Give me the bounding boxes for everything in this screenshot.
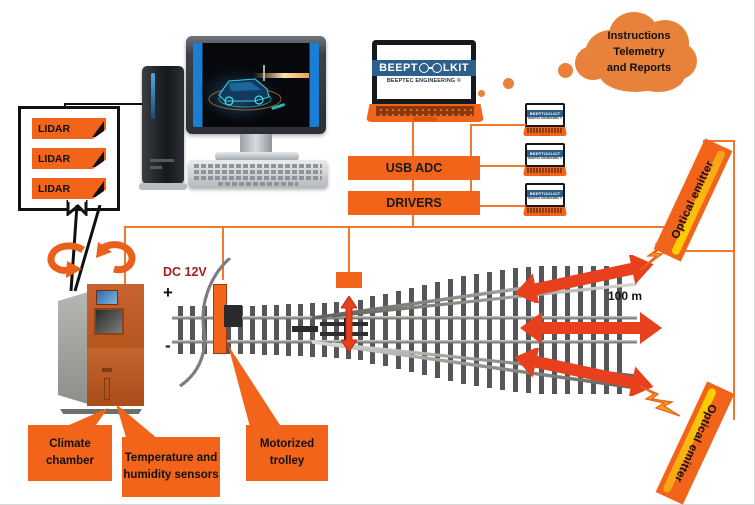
laptop-lid: BEEPT LKIT BEEPTEC ENGINEERING ©: [372, 40, 476, 104]
lidar-sensor-icon: [91, 121, 104, 137]
laptop-lid: BEEPTOOLKIT BEEPTEC ENGINEERING ©: [525, 143, 565, 167]
chamber-window: [94, 308, 124, 335]
callout-label: Motorized trolley: [246, 436, 328, 469]
lidar-panel[interactable]: LIDAR LIDAR LIDAR: [18, 106, 120, 211]
monitor-screen: [193, 43, 319, 127]
optical-emitter-label: Optical emitter: [670, 159, 717, 241]
switch-actuator-block[interactable]: [336, 272, 362, 288]
glasses-icon: [419, 63, 442, 73]
chamber-handle-icon: [104, 378, 110, 400]
cloud-bubble-small: [478, 90, 485, 97]
client-laptop-3[interactable]: BEEPTOOLKIT BEEPTEC ENGINEERING ©: [523, 183, 567, 217]
main-bus-horizontal: [124, 226, 676, 228]
lidar-to-tower-wire: [64, 103, 144, 105]
chamber-side-panel: [58, 292, 88, 404]
laptop-base: [523, 127, 567, 136]
brand-subtitle: BEEPTEC ENGINEERING ©: [387, 78, 461, 84]
laptop-screen: BEEPTOOLKIT BEEPTEC ENGINEERING ©: [527, 145, 563, 165]
chamber-control-display[interactable]: [96, 290, 118, 305]
tower-base: [139, 183, 187, 190]
brand-subtitle: BEEPTEC ENGINEERING ©: [528, 157, 562, 160]
optical-signal-icon-bottom: [640, 380, 680, 418]
tower-led-icon: [151, 73, 155, 119]
laptop-keyboard-icon: [527, 208, 563, 213]
lidar-item-label: LIDAR: [38, 183, 70, 195]
desktop-tower[interactable]: [142, 66, 184, 184]
measurement-arrow-middle: [520, 308, 662, 348]
cloud-line-3: and Reports: [607, 61, 671, 77]
laptop-screen: BEEPT LKIT BEEPTEC ENGINEERING ©: [377, 45, 471, 99]
desktop-monitor[interactable]: [186, 36, 326, 134]
desktop-keyboard[interactable]: [188, 160, 328, 188]
beeptoolkit-logo: BEEPTOOLKIT: [527, 150, 564, 157]
cloud-text: Instructions Telemetry and Reports: [575, 8, 703, 98]
cloud-line-1: Instructions: [608, 29, 671, 45]
diagram-canvas: LIDAR LIDAR LIDAR: [0, 0, 755, 505]
laptop-keyboard-icon: [527, 128, 563, 133]
lidar-sensor-icon: [91, 181, 104, 197]
brand-suffix: LKIT: [443, 62, 469, 74]
cloud-bubble-large: [558, 63, 573, 78]
laptop-touchpad-icon: [540, 214, 550, 216]
switch-throw-arrow-icon: [341, 296, 357, 352]
beeptoolkit-logo: BEEPTOOLKIT: [527, 110, 564, 117]
lidar-item-3[interactable]: LIDAR: [32, 178, 106, 199]
cloud-bubble-medium: [503, 78, 514, 89]
emitter-loop-vertical: [733, 140, 735, 420]
usb-adc-block[interactable]: USB ADC: [348, 156, 480, 180]
callout-label: Climate chamber: [28, 436, 112, 469]
lidar-item-label: LIDAR: [38, 123, 70, 135]
rotation-arrow-right-icon: [92, 238, 138, 280]
laptop-to-clients-wire: [470, 124, 526, 126]
drivers-label: DRIVERS: [386, 196, 442, 211]
rotation-arrow-left-icon: [45, 240, 91, 280]
cloud-line-2: Telemetry: [613, 45, 664, 61]
distance-label: 100 m: [608, 289, 642, 303]
laptop-touchpad-icon: [540, 174, 550, 176]
laptop-screen: BEEPTOOLKIT BEEPTEC ENGINEERING ©: [527, 185, 563, 205]
tower-port-icon: [150, 159, 174, 162]
laptop-touchpad-icon: [540, 134, 550, 136]
laptop-keyboard-icon: [376, 106, 474, 116]
optical-emitter-top[interactable]: Optical emitter: [654, 138, 733, 261]
brand-subtitle: BEEPTEC ENGINEERING ©: [528, 117, 562, 120]
tower-port-icon: [150, 166, 162, 169]
chamber-slot-icon: [102, 368, 112, 372]
laptop-base: [523, 207, 567, 216]
laptop-touchpad-icon: [413, 117, 437, 121]
laptop-screen: BEEPTOOLKIT BEEPTEC ENGINEERING ©: [527, 105, 563, 125]
brand-prefix: BEEPT: [379, 62, 418, 74]
cloud-callout: Instructions Telemetry and Reports: [575, 8, 703, 98]
laptop-lid: BEEPTOOLKIT BEEPTEC ENGINEERING ©: [525, 103, 565, 127]
dc-voltage-label: DC 12V: [163, 265, 207, 279]
polarity-plus-label: +: [163, 283, 173, 303]
motorized-trolley-leader: [224, 345, 304, 431]
climate-chamber[interactable]: [58, 284, 144, 410]
beeptoolkit-logo: BEEPT LKIT: [372, 60, 476, 76]
lidar-sensor-icon: [91, 151, 104, 167]
beeptoolkit-logo: BEEPTOOLKIT: [527, 190, 564, 197]
laptop-base: [523, 167, 567, 176]
laptop-lid: BEEPTOOLKIT BEEPTEC ENGINEERING ©: [525, 183, 565, 207]
callout-temperature-humidity-sensors[interactable]: Temperature and humidity sensors: [122, 437, 220, 497]
usb-adc-label: USB ADC: [386, 161, 442, 176]
lidar-item-2[interactable]: LIDAR: [32, 148, 106, 169]
usbadc-to-drivers-wire: [412, 180, 414, 191]
polarity-minus-label: -: [165, 336, 171, 356]
measurement-arrow-lower: [513, 348, 655, 396]
laptop-to-usbadc-wire: [412, 122, 414, 156]
callout-climate-chamber[interactable]: Climate chamber: [28, 425, 112, 481]
control-laptop[interactable]: BEEPT LKIT BEEPTEC ENGINEERING ©: [366, 40, 484, 122]
laptop-base: [366, 104, 484, 122]
lidar-item-label: LIDAR: [38, 153, 70, 165]
drivers-block[interactable]: DRIVERS: [348, 191, 480, 215]
brand-subtitle: BEEPTEC ENGINEERING ©: [528, 197, 562, 200]
monitor-stand: [240, 134, 272, 154]
callout-motorized-trolley[interactable]: Motorized trolley: [246, 425, 328, 481]
client-laptop-2[interactable]: BEEPTOOLKIT BEEPTEC ENGINEERING ©: [523, 143, 567, 177]
lidar-item-1[interactable]: LIDAR: [32, 118, 106, 139]
laptop-keyboard-icon: [527, 168, 563, 173]
callout-label: Temperature and humidity sensors: [122, 450, 220, 483]
client-laptop-1[interactable]: BEEPTOOLKIT BEEPTEC ENGINEERING ©: [523, 103, 567, 137]
